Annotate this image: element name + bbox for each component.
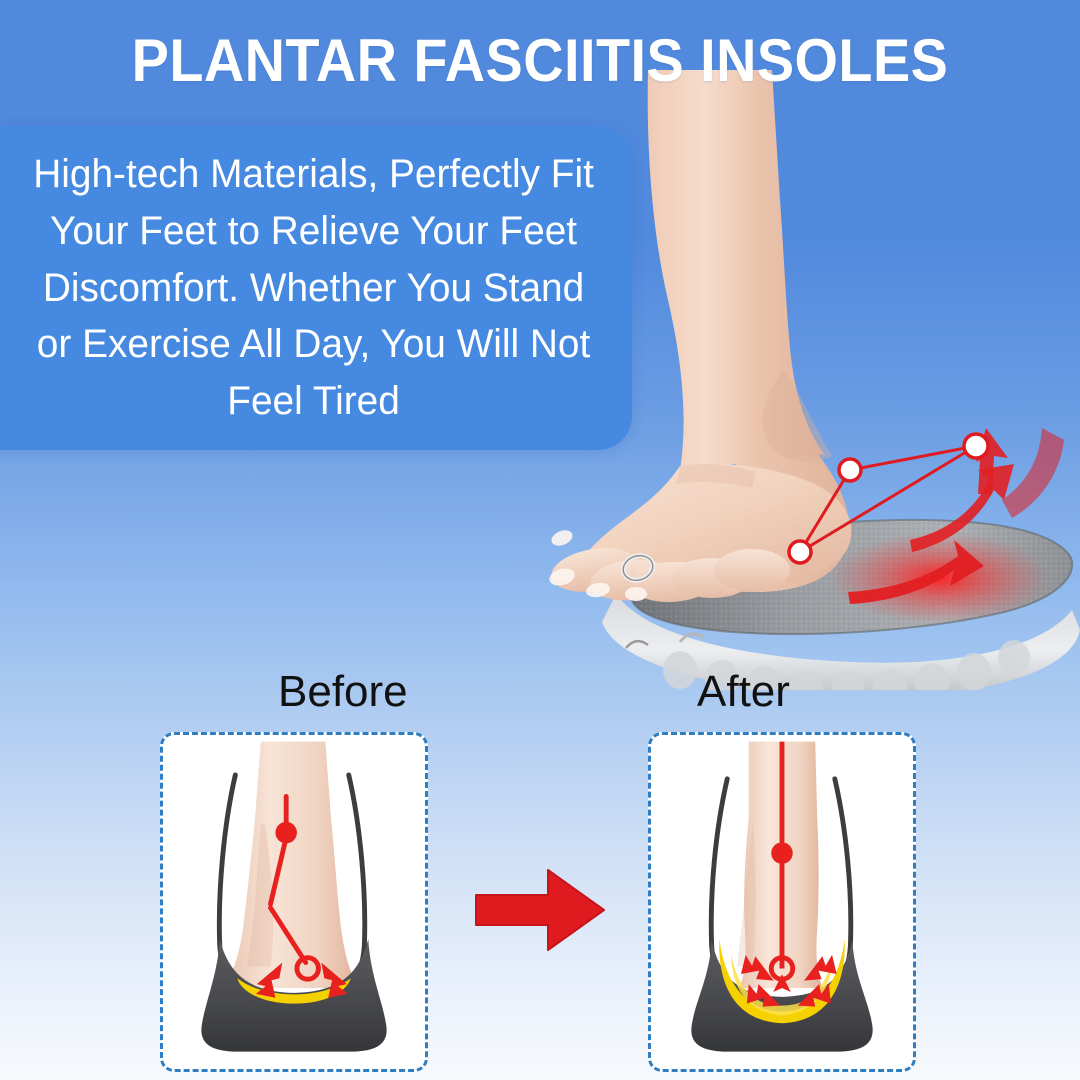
before-axis-node [275,822,297,844]
before-leg [224,742,359,988]
comparison-labels: Before After [0,664,1080,720]
right-arrow-icon [476,870,604,950]
product-ad-canvas: PLANTAR FASCIITIS INSOLES High-tech Mate… [0,0,1080,1080]
page-title: PLANTAR FASCIITIS INSOLES [38,26,1042,95]
after-label: After [697,664,790,720]
marketing-copy-panel: High-tech Materials, Perfectly Fit Your … [0,126,632,450]
before-label: Before [278,664,408,720]
after-axis-node [771,842,793,864]
before-comparison-panel [160,732,428,1072]
marketing-copy-text: High-tech Materials, Perfectly Fit Your … [0,146,622,430]
transition-arrow [470,862,610,958]
after-comparison-panel [648,732,916,1072]
